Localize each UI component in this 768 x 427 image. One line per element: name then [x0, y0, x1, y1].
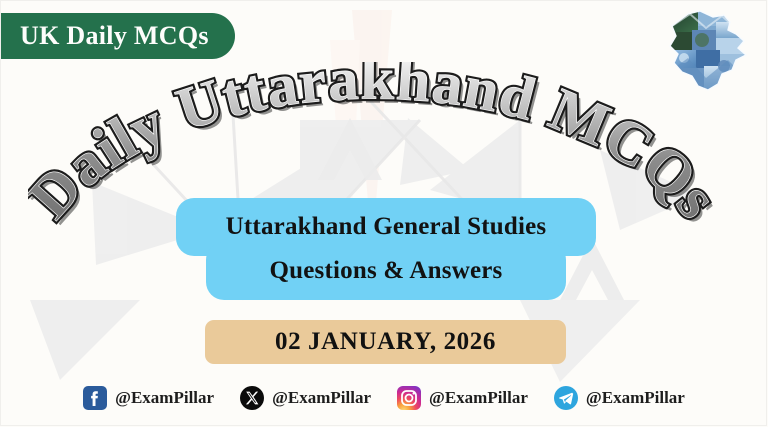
facebook-icon[interactable] [83, 386, 107, 410]
social-links-row: @ExamPillar @ExamPillar [0, 376, 768, 420]
x-twitter-icon[interactable] [240, 386, 264, 410]
x-twitter-handle: @ExamPillar [272, 388, 371, 408]
title-line-1: Uttarakhand General Studies [226, 213, 547, 241]
instagram-handle: @ExamPillar [429, 388, 528, 408]
social-item-instagram[interactable]: @ExamPillar [397, 386, 528, 410]
telegram-handle: @ExamPillar [586, 388, 685, 408]
title-row-secondary: Questions & Answers [206, 242, 566, 300]
social-item-x-twitter[interactable]: @ExamPillar [240, 386, 371, 410]
date-bar: 02 JANUARY, 2026 [205, 320, 566, 364]
instagram-icon[interactable] [397, 386, 421, 410]
social-item-telegram[interactable]: @ExamPillar [554, 386, 685, 410]
date-label: 02 JANUARY, 2026 [275, 328, 496, 356]
title-line-2: Questions & Answers [270, 257, 503, 285]
daily-mcqs-poster: UK Daily MCQs Daily Uttarakhand MCQs Dai… [0, 0, 768, 427]
facebook-handle: @ExamPillar [115, 388, 214, 408]
title-block: Uttarakhand General Studies Questions & … [176, 198, 596, 300]
uttarakhand-map-collage-icon [658, 8, 754, 100]
social-item-facebook[interactable]: @ExamPillar [83, 386, 214, 410]
telegram-icon[interactable] [554, 386, 578, 410]
badge-label: UK Daily MCQs [20, 21, 209, 51]
uk-daily-mcqs-badge: UK Daily MCQs [0, 13, 235, 59]
